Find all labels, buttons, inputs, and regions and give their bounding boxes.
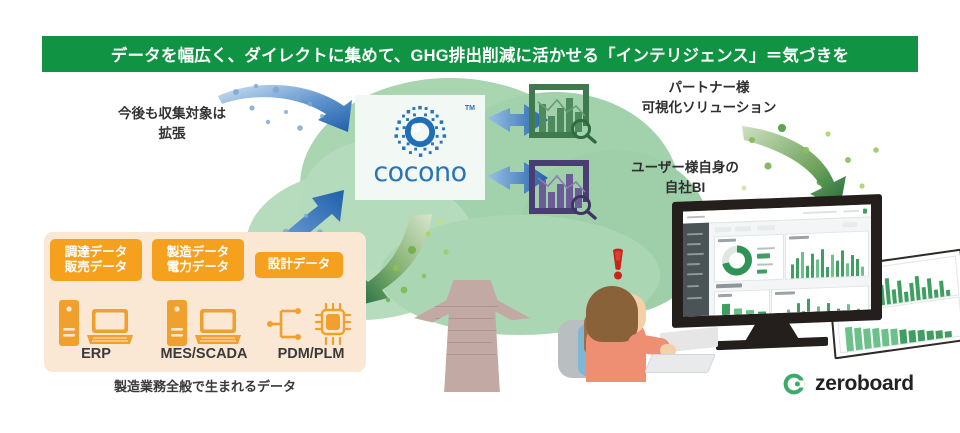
dash-card-bars <box>785 230 869 279</box>
output-label-ownbi: ユーザー様自身の 自社BI <box>600 158 770 197</box>
note-expand-scope: 今後も収集対象は 拡張 <box>72 104 272 143</box>
laptop-icon <box>86 308 134 346</box>
keyboard <box>644 354 716 373</box>
bar-chart-magnifier-icon <box>527 158 603 220</box>
note-expand-line2: 拡張 <box>72 124 272 144</box>
cpu-chip-icon <box>314 302 356 346</box>
node-tree-icon <box>267 302 307 346</box>
cocono-wordmark: cocono <box>355 157 485 188</box>
zeroboard-logo: zeroboard <box>782 372 914 396</box>
output-label-partner-line2: 可視化ソリューション <box>614 98 804 118</box>
output-label-ownbi-line2: 自社BI <box>600 178 770 198</box>
monitor-screen <box>683 204 871 316</box>
data-source-erp: ERP <box>48 296 144 362</box>
data-source-label: MES/SCADA <box>148 346 260 362</box>
dash-card-donut <box>714 234 784 283</box>
zeroboard-wordmark: zeroboard <box>815 372 914 396</box>
desktop-monitor <box>672 198 882 346</box>
data-source-label: PDM/PLM <box>262 346 360 362</box>
data-source-pdm-plm: PDM/PLM <box>262 296 360 362</box>
data-source-label: ERP <box>48 346 144 362</box>
monitor-base <box>716 337 828 350</box>
cocono-brand-card: TM cocono <box>355 95 485 200</box>
bar-chart-magnifier-icon <box>527 82 603 144</box>
alert-exclamation-icon <box>610 248 626 280</box>
data-tag-design: 設計データ <box>255 252 343 278</box>
note-expand-line1: 今後も収集対象は <box>72 104 272 124</box>
data-tag-line1: 調達データ <box>65 245 128 260</box>
trademark-icon: TM <box>465 105 475 112</box>
cocono-logo-icon <box>391 103 449 161</box>
output-label-ownbi-line1: ユーザー様自身の <box>600 158 770 178</box>
donut-chart <box>722 245 752 276</box>
data-tag-procurement-sales: 調達データ 販売データ <box>50 239 142 281</box>
person-at-desk <box>556 270 672 382</box>
output-label-partner-line1: パートナー様 <box>614 78 804 98</box>
output-label-partner: パートナー様 可視化ソリューション <box>614 78 804 117</box>
server-icon <box>167 300 187 346</box>
headline-text: データを幅広く、ダイレクトに集めて、GHG排出削減に活かせる「インテリジェンス」… <box>111 42 849 66</box>
data-tag-manufacturing-power: 製造データ 電力データ <box>152 239 244 281</box>
zeroboard-mark-icon <box>782 372 806 396</box>
data-tag-line2: 販売データ <box>65 260 128 275</box>
data-tag-line1: 設計データ <box>268 257 331 272</box>
data-tag-line2: 電力データ <box>167 260 230 275</box>
dashboard-sidebar <box>683 223 709 317</box>
person-hair <box>586 286 638 342</box>
server-icon <box>59 300 79 346</box>
data-source-mes-scada: MES/SCADA <box>148 296 260 362</box>
data-panel-caption: 製造業務全般で生まれるデータ <box>44 376 366 395</box>
dash-card-bars <box>714 289 770 316</box>
laptop-icon <box>194 308 242 346</box>
data-tag-line1: 製造データ <box>167 245 230 260</box>
infographic-canvas: データを幅広く、ダイレクトに集めて、GHG排出削減に活かせる「インテリジェンス」… <box>0 0 960 433</box>
headline-banner: データを幅広く、ダイレクトに集めて、GHG排出削減に活かせる「インテリジェンス」… <box>42 36 918 72</box>
